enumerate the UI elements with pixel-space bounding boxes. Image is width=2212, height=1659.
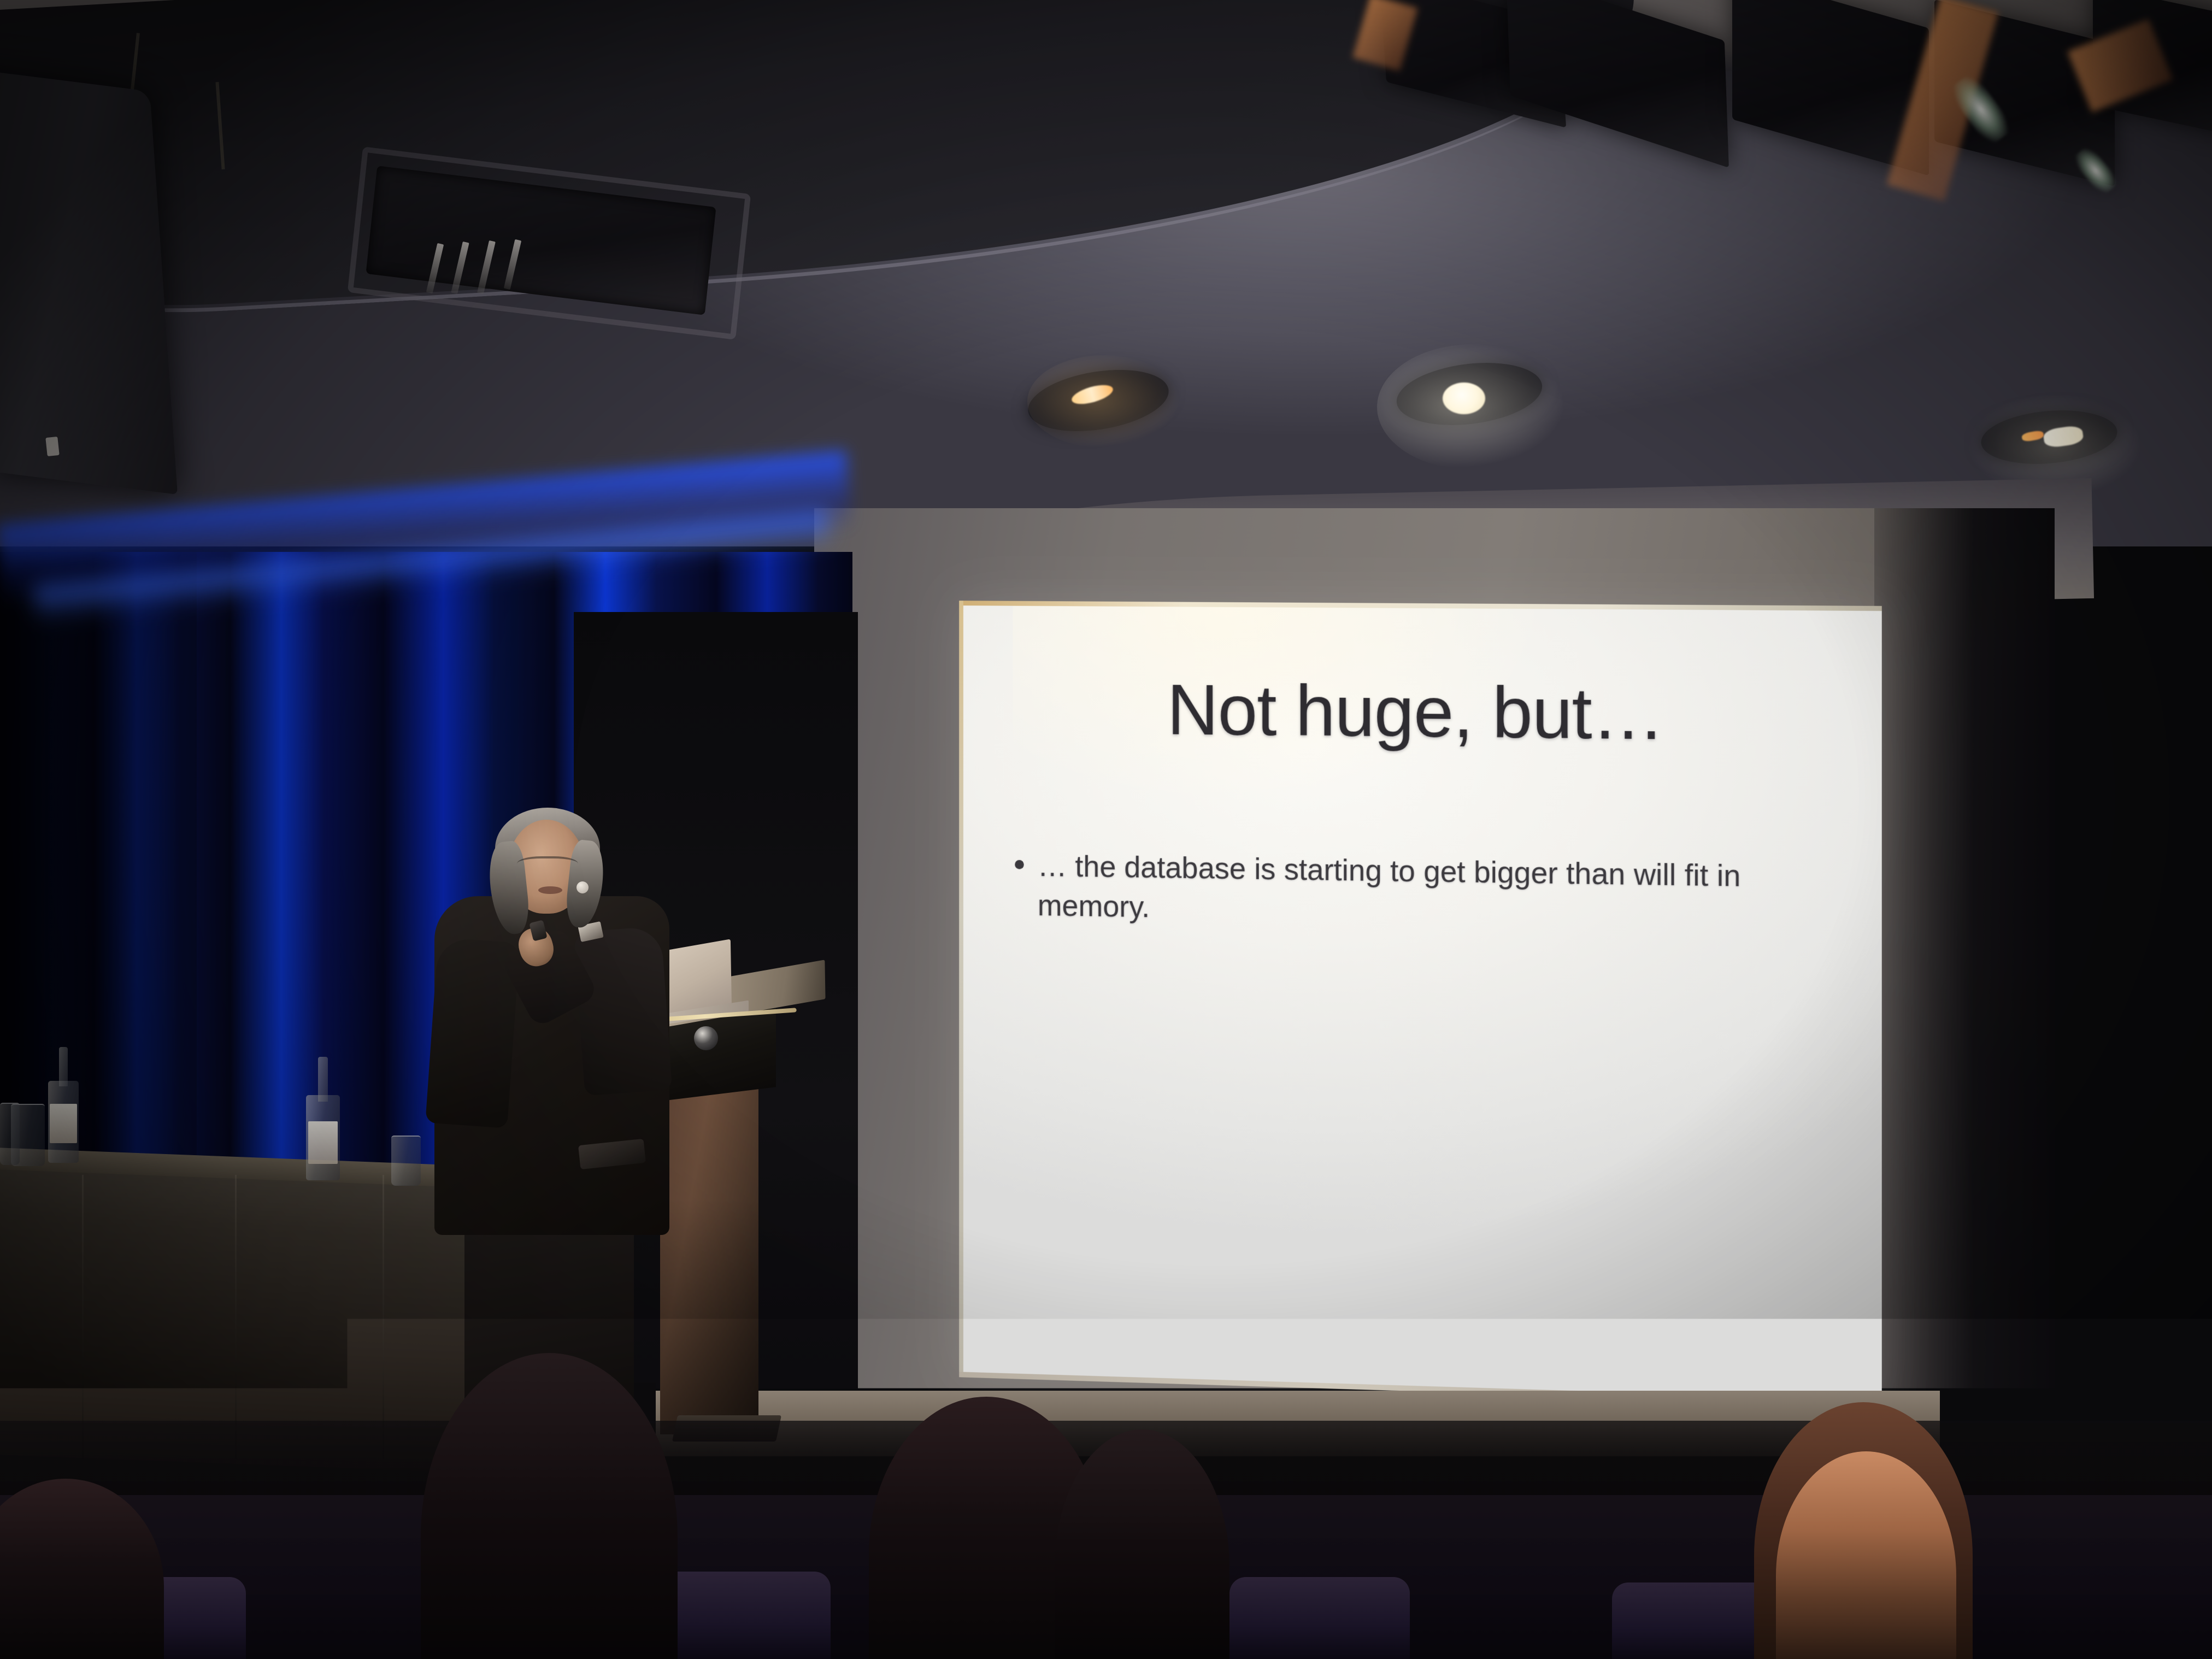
slide-surface: Not huge, but… … the database is startin… xyxy=(959,601,1882,1405)
presenter-mouth xyxy=(538,886,562,894)
slide-title: Not huge, but… xyxy=(959,667,1882,758)
bottle-label-icon xyxy=(50,1104,77,1143)
presenter-right-arm xyxy=(574,926,673,1096)
presenter-glasses-icon xyxy=(517,856,578,875)
drinking-glass-3 xyxy=(391,1136,421,1186)
projection-screen: Not huge, but… … the database is startin… xyxy=(959,601,1882,1405)
presenter-earpiece-mic xyxy=(576,881,589,893)
ceiling-spotlight-center-lamp xyxy=(1443,383,1485,414)
slide-bullet-item: … the database is starting to get bigger… xyxy=(1015,846,1808,938)
auditorium-seat xyxy=(1229,1577,1410,1659)
microphone-head-icon xyxy=(694,1026,718,1050)
table-drape-fold xyxy=(235,1175,237,1459)
table-drape-fold xyxy=(383,1175,384,1459)
hanging-loudspeaker-icon xyxy=(0,68,178,495)
table-drape-fold xyxy=(82,1175,84,1459)
auditorium-seat xyxy=(1612,1582,1776,1659)
auditorium-seat xyxy=(656,1572,831,1659)
back-wall-shadow xyxy=(1874,508,2055,1437)
water-bottle-2 xyxy=(306,1057,340,1180)
loudspeaker-led-icon xyxy=(45,437,59,456)
lectern-column-shadow xyxy=(660,1041,758,1434)
water-bottle-1 xyxy=(48,1047,79,1163)
bullet-dot-icon xyxy=(1015,860,1024,869)
auditorium-photo: Not huge, but… … the database is startin… xyxy=(0,0,2212,1659)
bottle-label-icon xyxy=(308,1121,338,1164)
slide-bullet-text: … the database is starting to get bigger… xyxy=(1038,846,1808,938)
drinking-glass-2 xyxy=(0,1103,20,1165)
